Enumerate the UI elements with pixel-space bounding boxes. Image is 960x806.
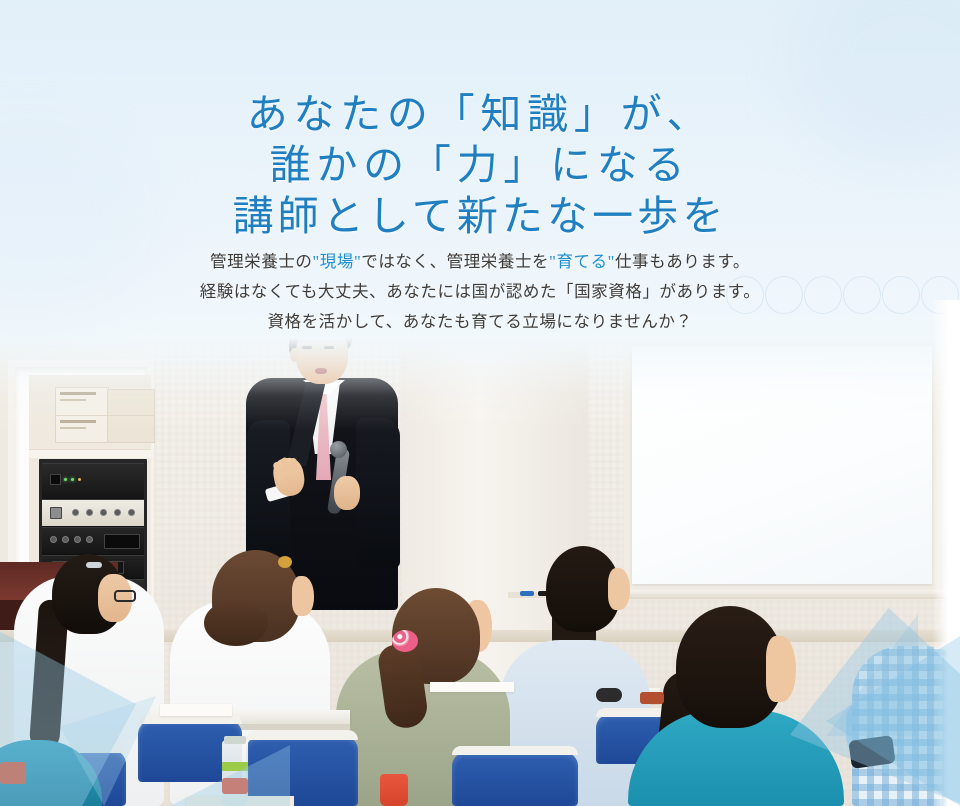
attendee-ear xyxy=(772,672,790,698)
hero-subtitle: 管理栄養士の"現場"ではなく、管理栄養士を"育てる"仕事もあります。 経験はなく… xyxy=(0,247,960,337)
projection-screen xyxy=(632,346,932,584)
rack-unit-eq xyxy=(42,527,144,555)
storage-box xyxy=(107,389,155,417)
storage-box xyxy=(55,415,109,443)
cabinet-shelf xyxy=(29,449,151,458)
storage-box xyxy=(55,387,109,417)
handout-paper xyxy=(430,682,514,692)
handbag xyxy=(596,688,622,702)
rack-knob xyxy=(86,536,93,543)
presenter-hand-mic xyxy=(334,476,360,510)
presenter-ear xyxy=(290,348,299,362)
attendee-face xyxy=(292,576,314,616)
box-label xyxy=(60,420,96,423)
bottle-cap xyxy=(224,736,246,744)
rack-button xyxy=(50,507,62,519)
screen-rail xyxy=(618,590,948,599)
attendee-face xyxy=(608,568,630,610)
whiteboard-marker xyxy=(520,591,534,596)
rack-display xyxy=(104,534,140,549)
presenter-eye xyxy=(302,346,312,349)
hair-clip xyxy=(86,562,102,568)
subtitle-highlight-genba: "現場" xyxy=(312,252,361,271)
rack-knob xyxy=(128,509,135,516)
rack-knob xyxy=(72,509,79,516)
chair-back-top xyxy=(452,746,578,755)
subtitle-text: ではなく、管理栄養士を xyxy=(361,252,549,271)
presenter-mouth xyxy=(315,368,327,374)
rack-port xyxy=(50,474,61,485)
chair-back-top xyxy=(246,730,358,740)
rack-knob xyxy=(114,509,121,516)
drink-cup xyxy=(380,774,408,806)
headline-line-3: 講師として新たな一歩を xyxy=(0,191,960,242)
headline-line-1: あなたの「知識」が、 xyxy=(0,89,960,140)
finger xyxy=(290,458,299,477)
status-led-icon xyxy=(71,478,74,481)
subtitle-line-3: 資格を活かして、あなたも育てる立場になりませんか？ xyxy=(0,307,960,337)
hero-headline: あなたの「知識」が、 誰かの「力」になる 講師として新たな一歩を xyxy=(0,89,960,242)
presenter-eye xyxy=(324,346,334,349)
hair-scrunchie xyxy=(392,630,418,652)
subtitle-line-2: 経験はなくても大丈夫、あなたには国が認めた「国家資格」があります。 xyxy=(0,277,960,307)
hair-clip xyxy=(278,556,292,568)
box-label xyxy=(60,392,96,395)
rack-knob xyxy=(86,509,93,516)
headline-line-2: 誰かの「力」になる xyxy=(0,140,960,191)
rack-knob xyxy=(74,536,81,543)
subtitle-text: 管理栄養士の xyxy=(210,252,312,271)
subtitle-line-1: 管理栄養士の"現場"ではなく、管理栄養士を"育てる"仕事もあります。 xyxy=(0,247,960,277)
handout-paper xyxy=(160,704,232,716)
chair xyxy=(452,752,578,806)
rack-unit-amplifier xyxy=(42,463,144,499)
status-led-icon xyxy=(64,478,67,481)
subtitle-text: 仕事もあります。 xyxy=(615,252,750,271)
rack-knob xyxy=(50,536,57,543)
box-label xyxy=(60,399,86,401)
attendee-hair-bun xyxy=(204,600,268,646)
storage-box xyxy=(107,415,155,443)
subtitle-highlight-sodateru: "育てる" xyxy=(549,252,615,271)
eyeglasses-icon xyxy=(114,590,136,602)
rack-unit-mixer xyxy=(42,499,144,527)
status-led-icon xyxy=(78,478,81,481)
presenter-arm-right xyxy=(356,418,400,568)
box-label xyxy=(60,427,86,429)
rack-knob xyxy=(62,536,69,543)
drink-cup xyxy=(640,692,664,704)
rack-knob xyxy=(100,509,107,516)
hero-section: あなたの「知識」が、 誰かの「力」になる 講師として新たな一歩を 管理栄養士の"… xyxy=(0,0,960,806)
